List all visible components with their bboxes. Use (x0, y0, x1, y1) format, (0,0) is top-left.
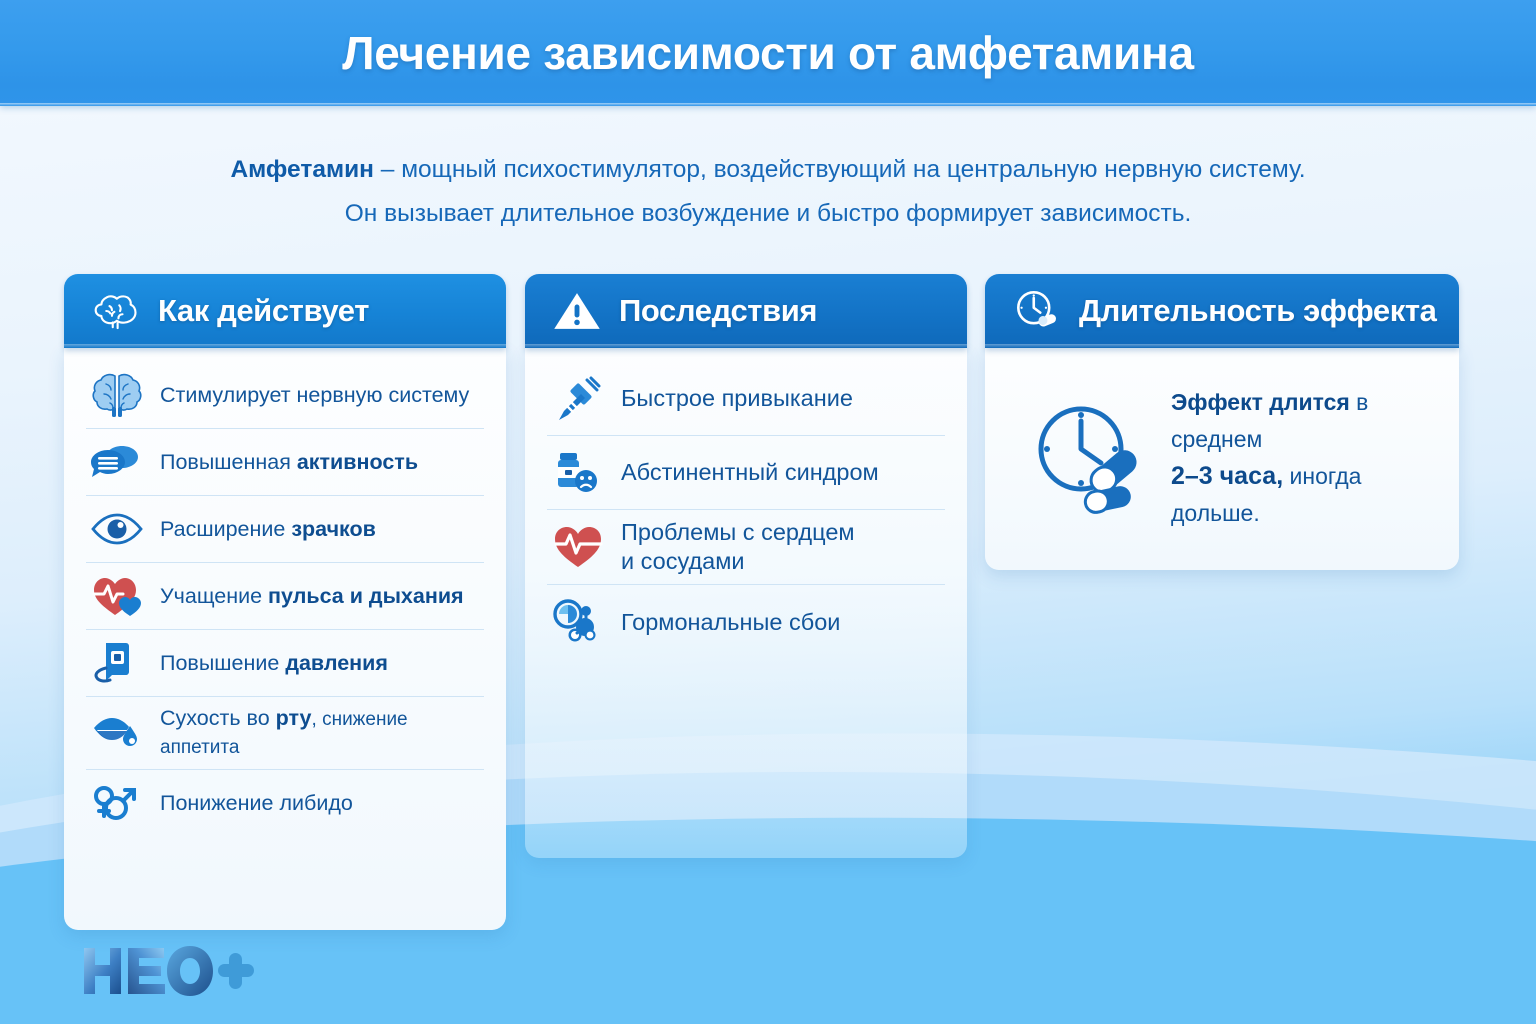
card-consequences: Последствия Быстрое привык (525, 274, 967, 858)
list-item: Учащение пульса и дыхания (86, 563, 484, 630)
list-item-label: Гормональные сбои (621, 608, 840, 637)
card-how-header: Как действует (64, 274, 506, 348)
brain-outline-icon (90, 287, 142, 335)
intro-paragraph: Амфетамин – мощный психостимулятор, возд… (0, 148, 1536, 236)
card-how-body: Стимулирует нервную систему Повышенная а (64, 348, 506, 930)
heart-pulse-icon (90, 571, 144, 621)
list-item-label: Стимулирует нервную систему (160, 382, 469, 409)
list-item: Повышение давления (86, 630, 484, 697)
page-title: Лечение зависимости от амфетамина (342, 26, 1194, 80)
list-item-label: Повышенная активность (160, 449, 418, 476)
brain-icon (90, 370, 144, 420)
list-item-label: Понижение либидо (160, 790, 353, 817)
dry-mouth-icon (90, 708, 144, 758)
list-item: Стимулирует нервную систему (86, 362, 484, 429)
list-item: Понижение либидо (86, 770, 484, 836)
duration-text: Эффект длится в среднем 2–3 часа, иногда… (1171, 384, 1429, 532)
hormone-molecule-icon (551, 597, 605, 647)
card-duration-header: Длительность эффекта (985, 274, 1459, 348)
list-item-label: Учащение пульса и дыхания (160, 583, 464, 610)
card-duration: Длительность эффекта (985, 274, 1459, 570)
clock-capsules-icon (1029, 399, 1149, 517)
heart-cardio-icon (551, 522, 605, 572)
card-consequences-header: Последствия (525, 274, 967, 348)
intro-lead: Амфетамин (230, 156, 374, 183)
card-duration-body: Эффект длится в среднем 2–3 часа, иногда… (985, 348, 1459, 570)
blood-pressure-monitor-icon (90, 638, 144, 688)
list-item-label: Расширение зрачков (160, 516, 376, 543)
list-item-label: Повышение давления (160, 650, 388, 677)
intro-line-2: Он вызывает длительное возбуждение и быс… (0, 192, 1536, 236)
intro-line-1-rest: – мощный психостимулятор, воздействующий… (374, 156, 1306, 183)
list-item-label: Сухость во рту, снижение аппетита (160, 705, 480, 761)
list-item-label: Быстрое привыкание (621, 384, 853, 413)
list-item: Повышенная активность (86, 429, 484, 496)
syringe-icon (551, 374, 605, 424)
eye-icon (90, 504, 144, 554)
card-consequences-title: Последствия (619, 293, 817, 329)
list-item: Проблемы с сердцеми сосудами (547, 510, 945, 585)
list-item: Абстинентный синдром (547, 436, 945, 510)
card-consequences-body: Быстрое привыкание Абстинентный с (525, 348, 967, 858)
list-item: Сухость во рту, снижение аппетита (86, 697, 484, 770)
card-how-title: Как действует (158, 293, 369, 329)
list-item: Расширение зрачков (86, 496, 484, 563)
card-duration-title: Длительность эффекта (1079, 293, 1437, 329)
list-item-label: Абстинентный синдром (621, 458, 879, 487)
list-item: Гормональные сбои (547, 585, 945, 659)
gender-symbols-icon (90, 778, 144, 828)
list-item-label: Проблемы с сердцеми сосудами (621, 518, 855, 576)
intro-line-1: Амфетамин – мощный психостимулятор, возд… (0, 148, 1536, 192)
infographic-page: Лечение зависимости от амфетамина Амфета… (0, 0, 1536, 1024)
clock-pills-icon (1011, 287, 1063, 335)
list-item: Быстрое привыкание (547, 362, 945, 436)
card-how-it-works: Как действует (64, 274, 506, 930)
duration-content: Эффект длится в среднем 2–3 часа, иногда… (1007, 374, 1437, 532)
pill-bottle-sad-icon (551, 448, 605, 498)
warning-triangle-icon (551, 287, 603, 335)
speech-bubble-icon (90, 437, 144, 487)
neo-plus-logo (78, 940, 258, 1002)
page-header: Лечение зависимости от амфетамина (0, 0, 1536, 106)
